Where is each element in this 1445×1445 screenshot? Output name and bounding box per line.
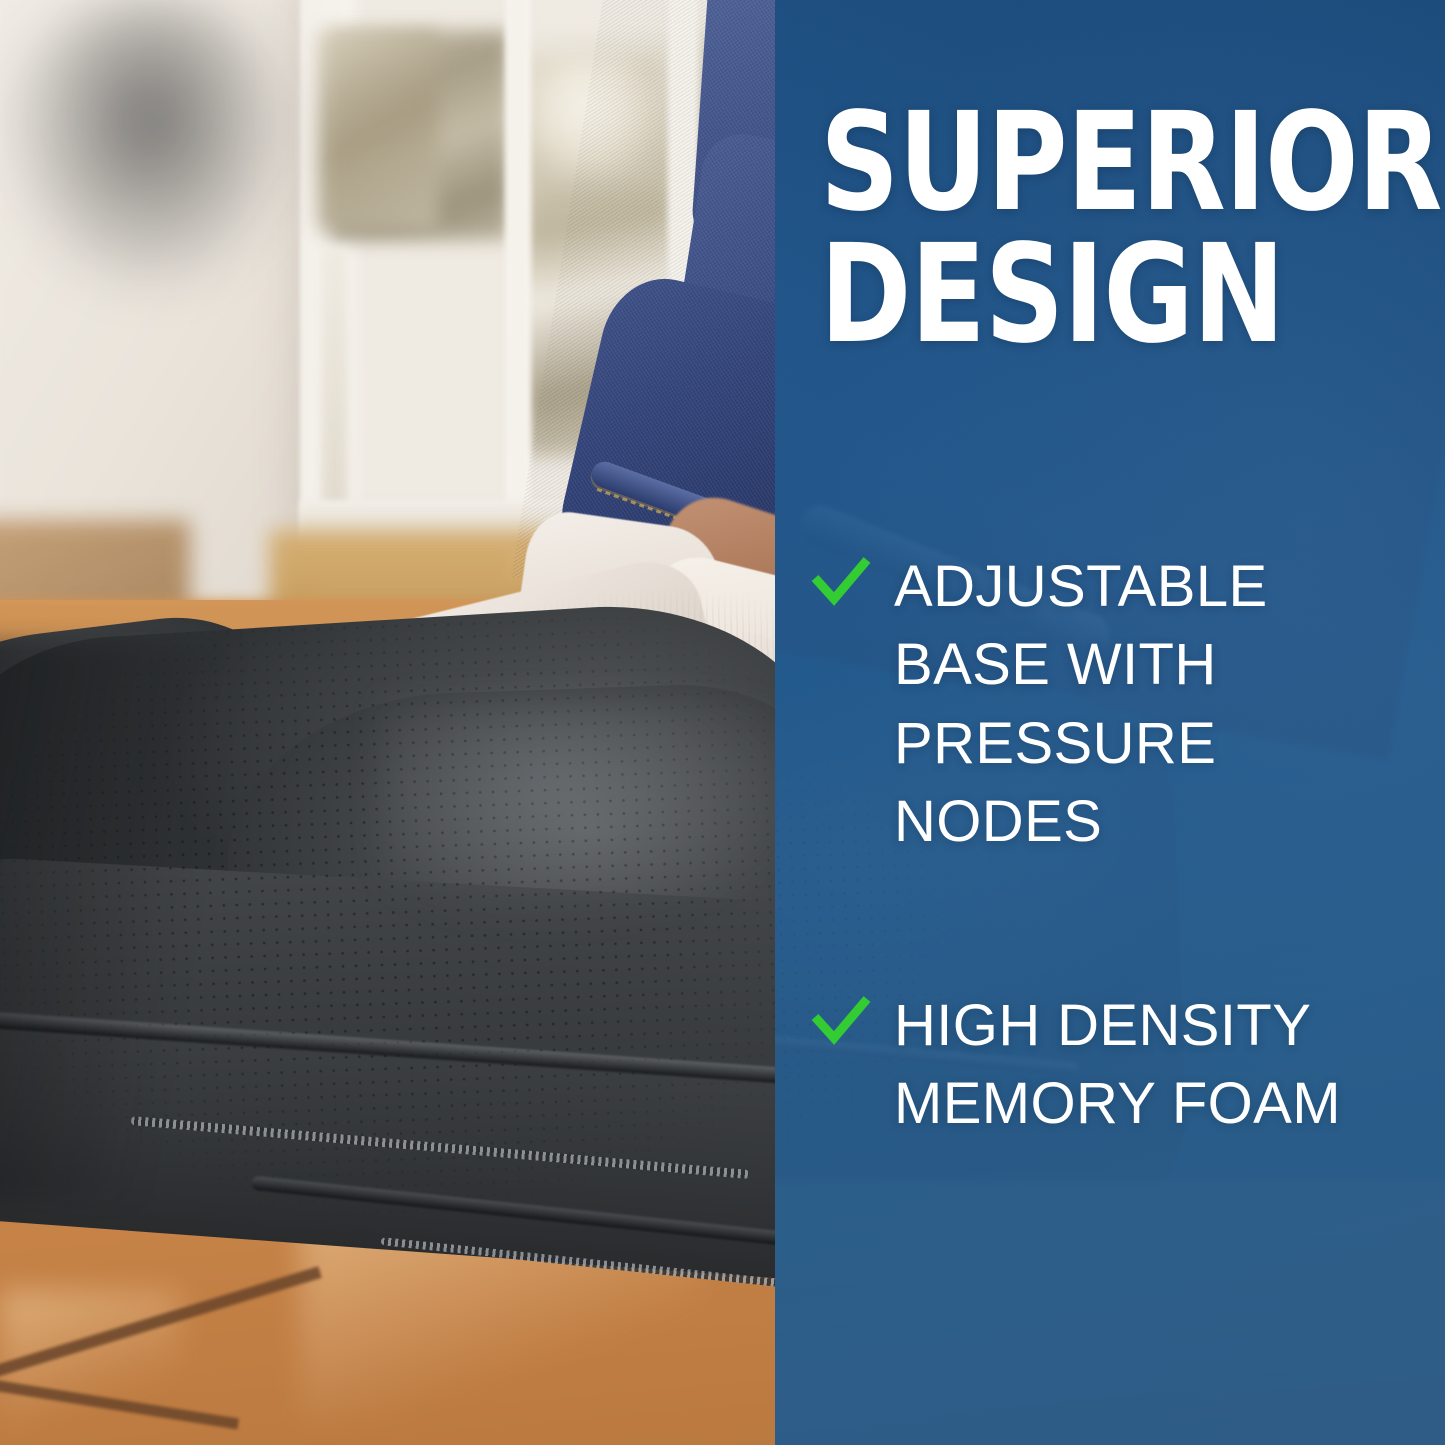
product-photo (0, 0, 775, 1445)
footrest-highlight (380, 700, 775, 930)
feature-label: HIGH DENSITY MEMORY FOAM (894, 987, 1394, 1144)
product-feature-graphic: SUPERIOR DESIGN ADJUSTABLE BASE WITH PRE… (0, 0, 1445, 1445)
headline-line-2: DESIGN (820, 230, 1360, 362)
check-icon (810, 993, 872, 1051)
feature-item: HIGH DENSITY MEMORY FOAM (810, 987, 1430, 1144)
feature-list: ADJUSTABLE BASE WITH PRESSURE NODES HIGH… (810, 548, 1430, 1144)
check-icon (810, 554, 872, 612)
footrest-shadow (0, 640, 250, 1200)
photo-scene (0, 0, 775, 1445)
footrest-center-groove (0, 0, 300, 300)
headline-line-1: SUPERIOR (820, 98, 1360, 230)
feature-item: ADJUSTABLE BASE WITH PRESSURE NODES (810, 548, 1430, 861)
cabinet-pane (318, 30, 438, 230)
page-title: SUPERIOR DESIGN (820, 98, 1360, 362)
cabinet-door-edge (322, 250, 348, 540)
feature-label: ADJUSTABLE BASE WITH PRESSURE NODES (894, 548, 1394, 861)
blue-text-panel: SUPERIOR DESIGN ADJUSTABLE BASE WITH PRE… (775, 0, 1445, 1445)
